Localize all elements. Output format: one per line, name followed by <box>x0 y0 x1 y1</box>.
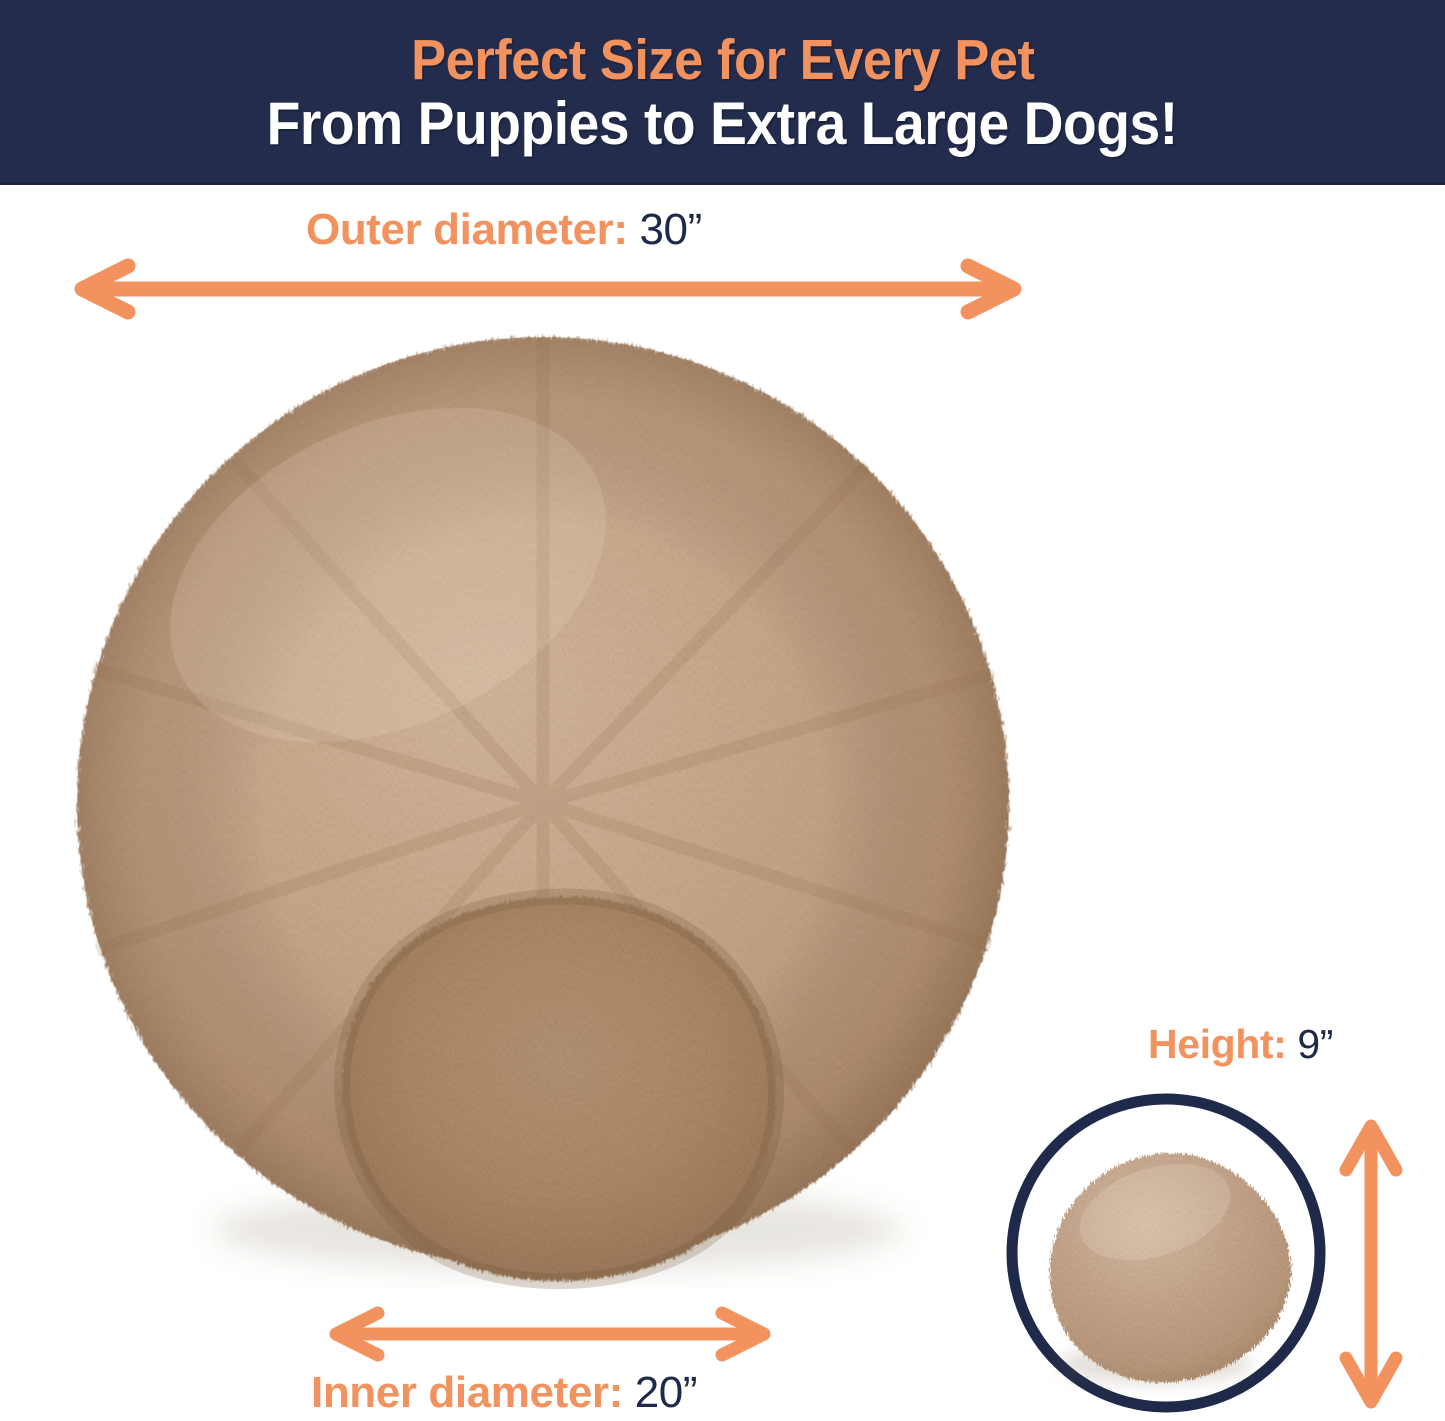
height-label: Height: 9” <box>1148 1021 1333 1068</box>
pet-bed-side-view-graphic <box>1005 1092 1327 1414</box>
headline-secondary: From Puppies to Extra Large Dogs! <box>267 93 1178 155</box>
header-banner: Perfect Size for Every Pet From Puppies … <box>0 0 1445 184</box>
height-label-text: Height: <box>1148 1021 1286 1067</box>
pet-bed-side-view: Side view of the plush pet bed inside a … <box>1005 1092 1327 1414</box>
inner-diameter-label-text: Inner diameter: <box>311 1368 623 1417</box>
inner-diameter-label: Inner diameter: 20” <box>311 1368 697 1418</box>
outer-diameter-label: Outer diameter: 30” <box>306 205 702 255</box>
outer-diameter-value: 30” <box>639 205 701 254</box>
outer-diameter-label-text: Outer diameter: <box>306 205 628 254</box>
product-size-infographic: Perfect Size for Every Pet From Puppies … <box>0 0 1445 1421</box>
height-arrow <box>1332 1112 1410 1414</box>
headline-primary: Perfect Size for Every Pet <box>411 29 1034 91</box>
header-divider <box>0 182 1445 185</box>
inner-diameter-value: 20” <box>635 1368 697 1417</box>
pet-bed-top-view-graphic <box>58 325 1028 1290</box>
pet-bed-top-view: Round plush donut pet bed seen from abov… <box>58 325 1028 1290</box>
outer-diameter-arrow <box>62 258 1034 320</box>
inner-diameter-arrow <box>320 1305 780 1363</box>
header-text-group: Perfect Size for Every Pet From Puppies … <box>0 0 1445 184</box>
height-value: 9” <box>1297 1021 1333 1067</box>
